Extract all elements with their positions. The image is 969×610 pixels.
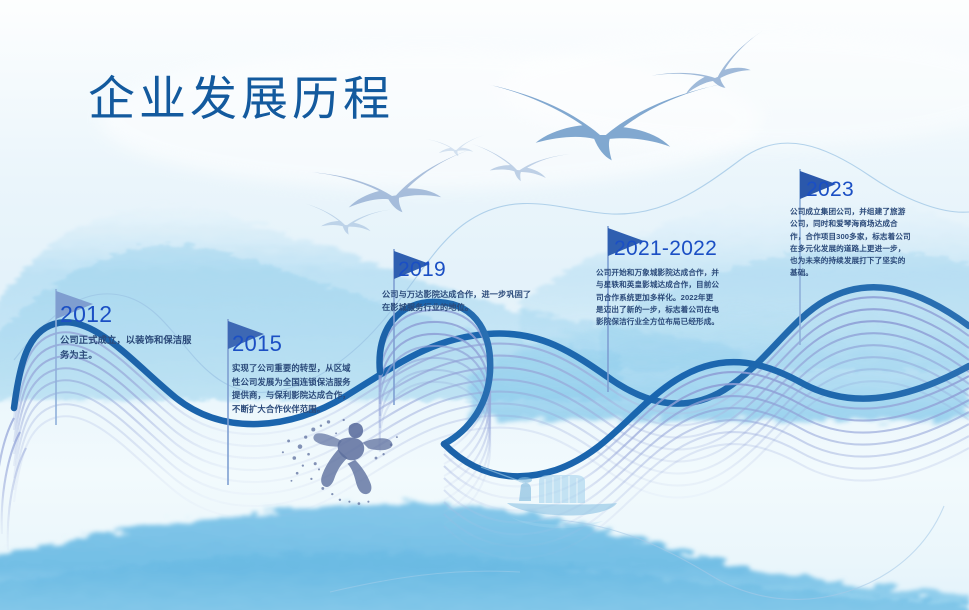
milestone-year: 2019 bbox=[398, 259, 446, 280]
milestone-description: 公司成立集团公司，并组建了旅游公司，同时和爱琴海商场达成合作，合作项目300多家… bbox=[790, 206, 912, 280]
fishing-boat-icon bbox=[481, 467, 617, 528]
milestone-year: 2012 bbox=[60, 303, 112, 326]
milestone-description: 实现了公司重要的转型，从区域性公司发展为全国连锁保洁服务提供商，与保利影院达成合… bbox=[232, 362, 356, 416]
milestone-year: 2021-2022 bbox=[614, 238, 717, 259]
milestone-year: 2023 bbox=[806, 179, 854, 200]
milestone-description: 公司开始和万象城影院达成合作，并与星轶和英皇影城达成合作，目前公司合作系统更加多… bbox=[596, 267, 720, 328]
milestone-description: 公司正式成立，以装饰和保洁服务为主。 bbox=[60, 333, 192, 363]
milestone-year: 2015 bbox=[232, 333, 282, 355]
page-title: 企业发展历程 bbox=[88, 60, 394, 129]
milestone-description: 公司与万达影院达成合作，进一步巩固了在影城服务行业的地位。 bbox=[382, 288, 534, 315]
poster-canvas: 企业发展历程 2012 公司正式成立，以装饰和保洁服务为主。 2015 实现了公… bbox=[0, 0, 969, 610]
